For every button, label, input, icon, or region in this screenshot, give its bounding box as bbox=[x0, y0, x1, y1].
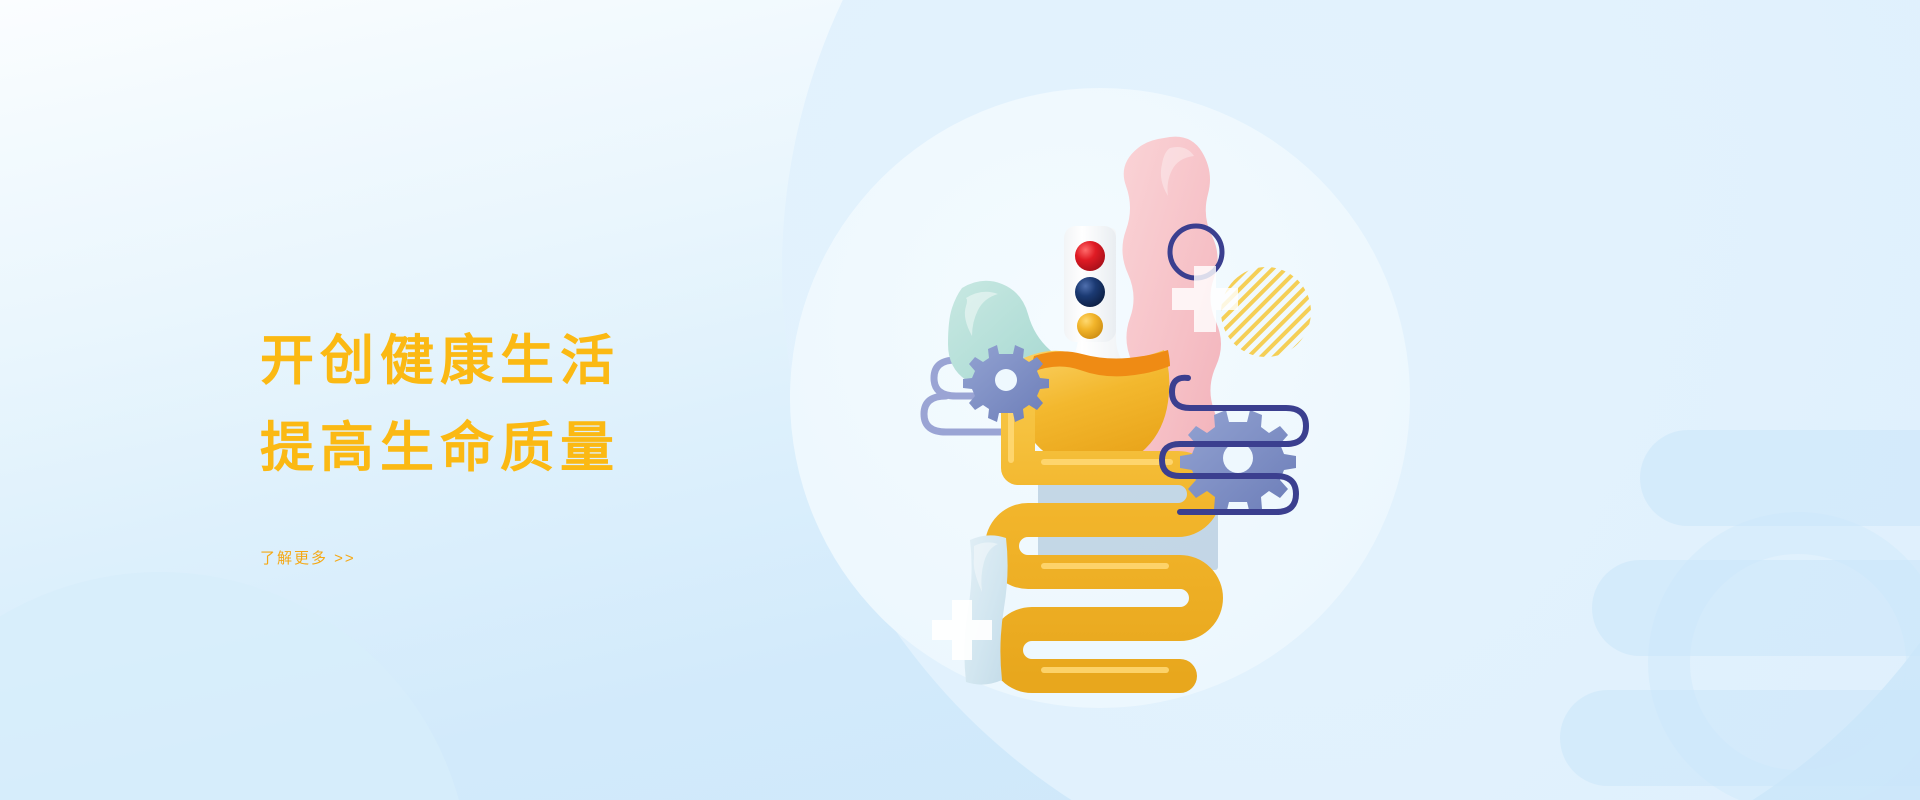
banner-copy-block: 开创健康生活 提高生命质量 了解更多 >> bbox=[260, 318, 880, 568]
hatched-circle-icon bbox=[1221, 267, 1311, 357]
headline-line-2: 提高生命质量 bbox=[260, 405, 880, 492]
background-pill-shape-2 bbox=[1560, 690, 1920, 786]
pill-gold-icon bbox=[1077, 313, 1103, 339]
headline-line-1: 开创健康生活 bbox=[260, 318, 880, 405]
background-circle-shape bbox=[0, 572, 470, 800]
pill-navy-icon bbox=[1075, 277, 1105, 307]
learn-more-link[interactable]: 了解更多 >> bbox=[260, 547, 356, 568]
background-pill-shape-1 bbox=[1592, 560, 1920, 656]
pill-red-icon bbox=[1075, 241, 1105, 271]
hero-banner: 开创健康生活 提高生命质量 了解更多 >> bbox=[0, 0, 1920, 800]
background-pill-shape-3 bbox=[1640, 430, 1920, 526]
